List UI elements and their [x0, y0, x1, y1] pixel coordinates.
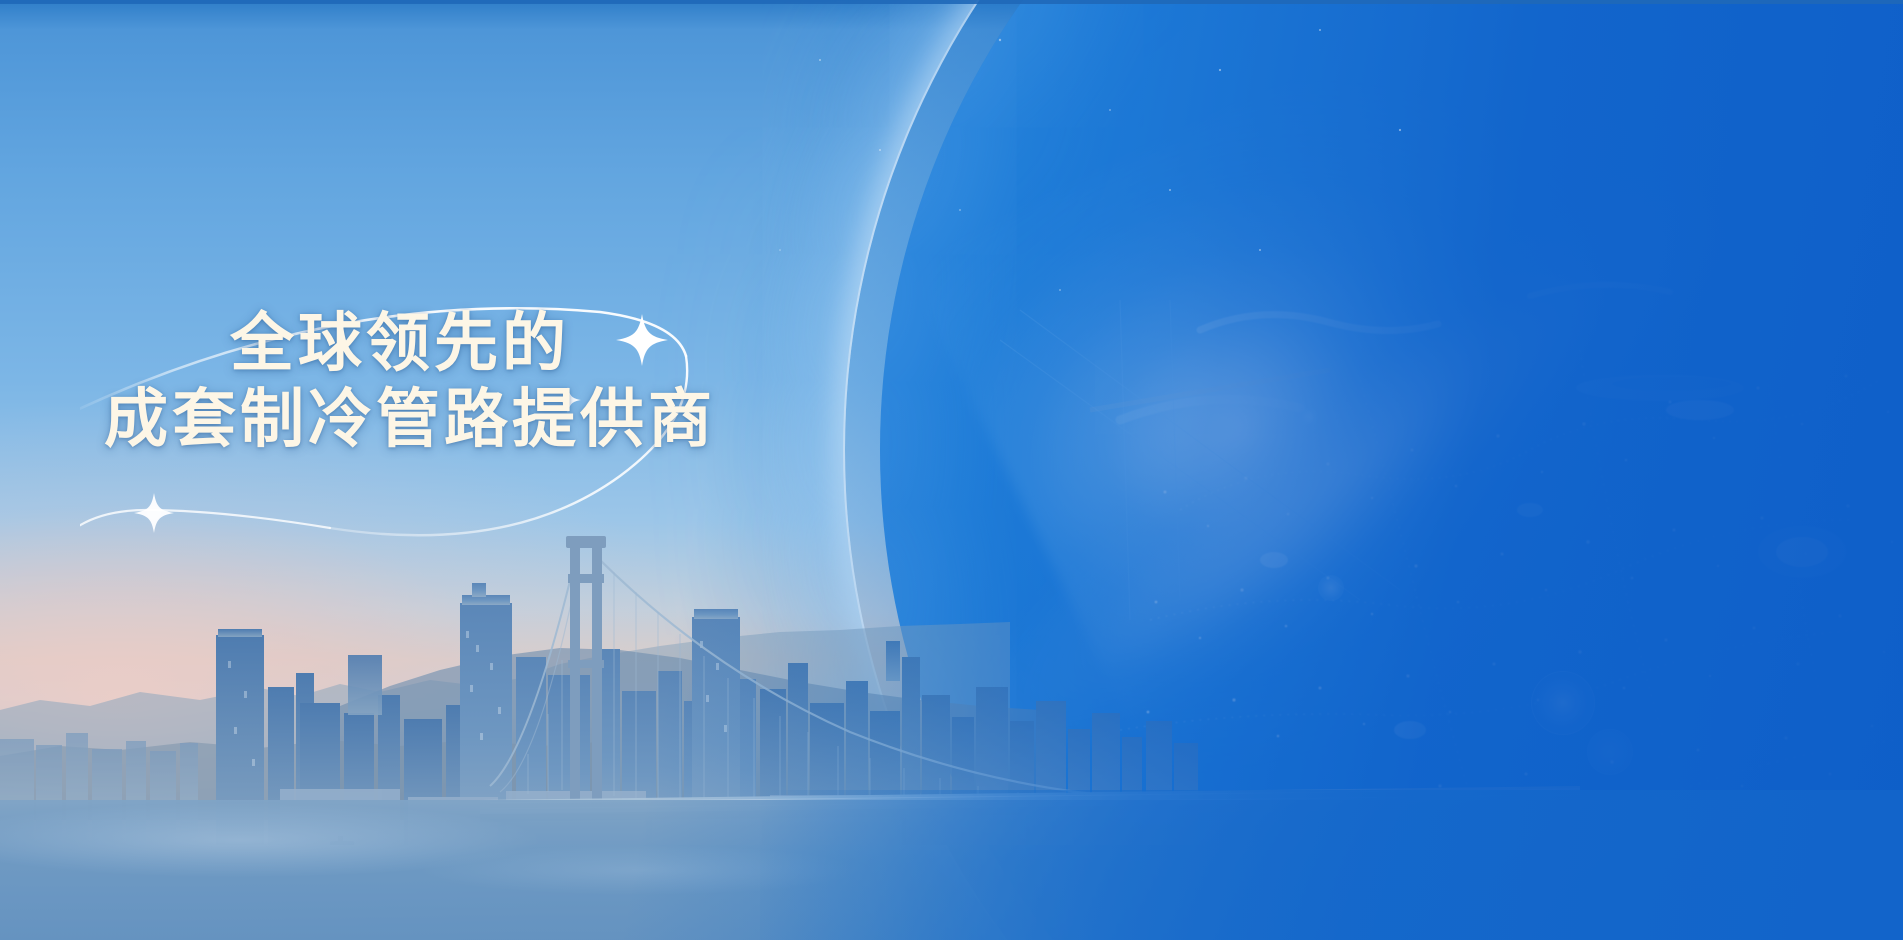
hero-headline: 全球领先的 成套制冷管路提供商 — [104, 306, 804, 457]
headline-line-1: 全球领先的 — [230, 306, 804, 382]
top-edge-strip — [0, 0, 1903, 4]
water-blue-overlay — [760, 790, 1903, 940]
sparkle-star-left — [134, 493, 174, 533]
headline-line-2: 成套制冷管路提供商 — [104, 382, 804, 458]
hero-banner: 全球领先的 成套制冷管路提供商 — [0, 0, 1903, 940]
